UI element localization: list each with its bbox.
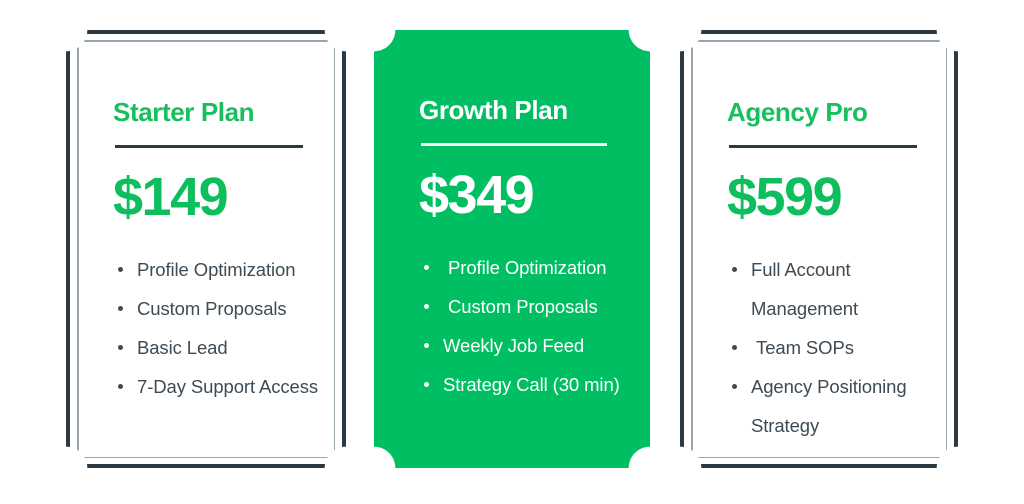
plan-divider-starter	[115, 145, 303, 148]
feature-item: Full Account Management	[727, 250, 932, 328]
pricing-card-starter[interactable]: Starter Plan $149 Profile Optimization C…	[66, 30, 346, 468]
feature-item: Basic Lead	[113, 328, 320, 367]
feature-item: Profile Optimization	[113, 250, 320, 289]
card-content-agency-pro: Agency Pro $599 Full Account Management …	[680, 30, 958, 468]
feature-item: Profile Optimization	[419, 248, 624, 287]
plan-divider-agency-pro	[729, 145, 917, 148]
plan-name-agency-pro: Agency Pro	[727, 98, 932, 127]
feature-list-agency-pro: Full Account Management Team SOPs Agency…	[727, 250, 932, 445]
plan-name-growth: Growth Plan	[419, 96, 624, 125]
card-content-starter: Starter Plan $149 Profile Optimization C…	[66, 30, 346, 468]
plan-price-agency-pro: $599	[727, 170, 932, 224]
feature-list-growth: Profile Optimization Custom Proposals We…	[419, 248, 624, 404]
feature-item: Team SOPs	[727, 328, 932, 367]
pricing-card-agency-pro[interactable]: Agency Pro $599 Full Account Management …	[680, 30, 958, 468]
card-content-growth: Growth Plan $349 Profile Optimization Cu…	[374, 30, 650, 468]
feature-item: 7-Day Support Access	[113, 367, 320, 406]
feature-item: Custom Proposals	[419, 287, 624, 326]
plan-price-starter: $149	[113, 170, 320, 224]
plan-divider-growth	[421, 143, 607, 146]
pricing-card-growth[interactable]: Growth Plan $349 Profile Optimization Cu…	[374, 30, 650, 468]
feature-item: Custom Proposals	[113, 289, 320, 328]
feature-item: Agency Positioning Strategy	[727, 367, 932, 445]
feature-item: Strategy Call (30 min)	[419, 365, 624, 404]
plan-price-growth: $349	[419, 168, 624, 222]
feature-list-starter: Profile Optimization Custom Proposals Ba…	[113, 250, 320, 406]
plan-name-starter: Starter Plan	[113, 98, 320, 127]
feature-item: Weekly Job Feed	[419, 326, 624, 365]
pricing-plans-board: Starter Plan $149 Profile Optimization C…	[0, 0, 1024, 504]
